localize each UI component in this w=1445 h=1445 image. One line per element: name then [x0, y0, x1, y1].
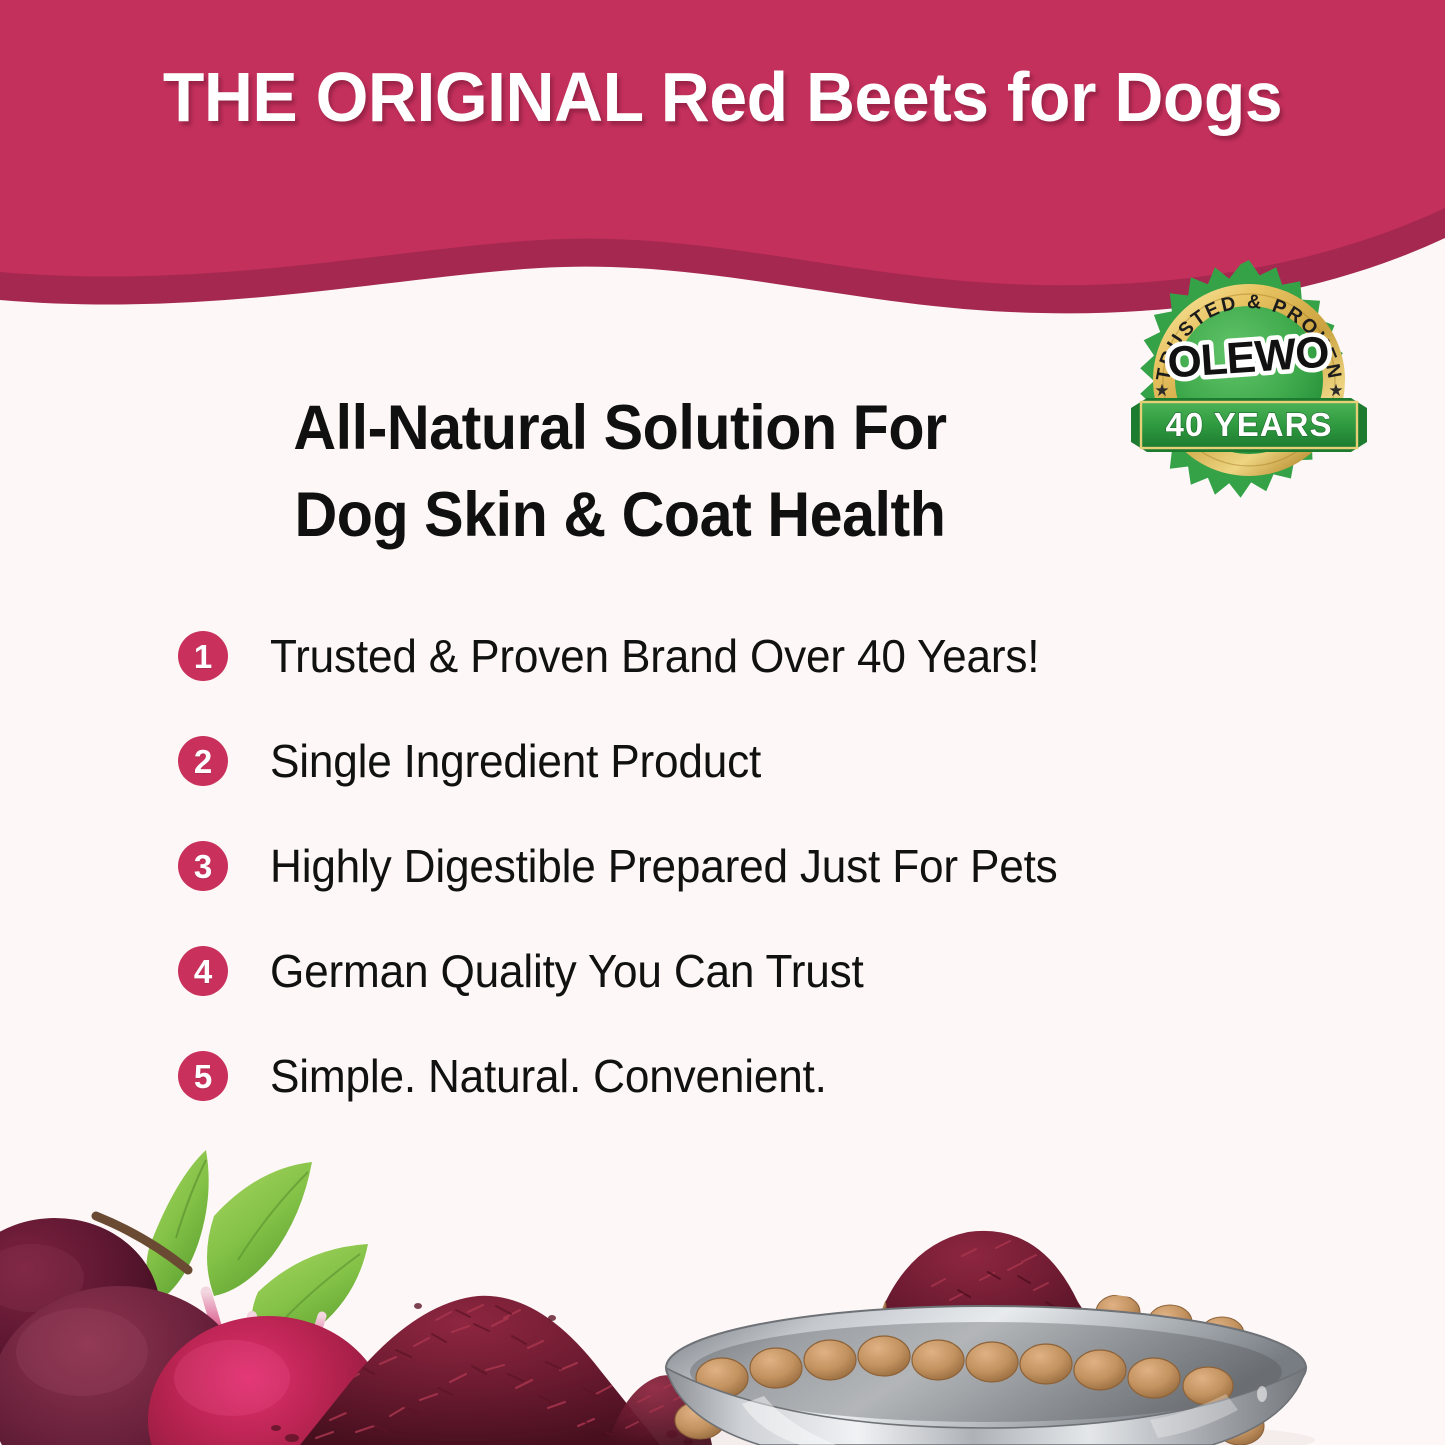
headline: All-Natural Solution For Dog Skin & Coat…	[150, 385, 1090, 559]
benefit-text: Trusted & Proven Brand Over 40 Years!	[270, 632, 1039, 680]
olewo-trust-seal-badge: TRUSTED & PROVEN ★ ★ OLEWO OLEWO 40 YEAR…	[1125, 256, 1373, 504]
benefit-number-badge: 1	[178, 631, 228, 681]
seal-ribbon-text: 40 YEARS	[1166, 406, 1333, 443]
benefit-number-badge: 3	[178, 841, 228, 891]
benefit-number-badge: 4	[178, 946, 228, 996]
fresh-beets-group	[0, 1150, 388, 1445]
product-poster: THE ORIGINAL Red Beets for Dogs	[0, 0, 1445, 1445]
list-item: 5 Simple. Natural. Convenient.	[178, 1048, 1358, 1104]
benefit-text: German Quality You Can Trust	[270, 947, 864, 995]
bottom-product-imagery	[0, 1120, 1445, 1445]
dog-bowl-group	[666, 1231, 1306, 1445]
seal-badge-graphic: TRUSTED & PROVEN ★ ★ OLEWO OLEWO 40 YEAR…	[1125, 256, 1373, 504]
benefit-number-badge: 5	[178, 1051, 228, 1101]
benefit-text: Highly Digestible Prepared Just For Pets	[270, 842, 1058, 890]
seal-star-left-icon: ★	[1154, 381, 1169, 400]
list-item: 3 Highly Digestible Prepared Just For Pe…	[178, 838, 1358, 894]
benefits-list: 1 Trusted & Proven Brand Over 40 Years! …	[178, 628, 1358, 1104]
bottom-imagery-graphic	[0, 1120, 1445, 1445]
list-item: 2 Single Ingredient Product	[178, 733, 1358, 789]
list-item: 1 Trusted & Proven Brand Over 40 Years!	[178, 628, 1358, 684]
list-item: 4 German Quality You Can Trust	[178, 943, 1358, 999]
benefit-text: Single Ingredient Product	[270, 737, 761, 785]
seal-ribbon: 40 YEARS	[1131, 398, 1367, 452]
benefit-number-badge: 2	[178, 736, 228, 786]
headline-line-2: Dog Skin & Coat Health	[150, 472, 1090, 559]
benefit-text: Simple. Natural. Convenient.	[270, 1052, 827, 1100]
banner-title: THE ORIGINAL Red Beets for Dogs	[22, 62, 1424, 133]
seal-star-right-icon: ★	[1328, 381, 1343, 400]
headline-line-1: All-Natural Solution For	[150, 385, 1090, 472]
